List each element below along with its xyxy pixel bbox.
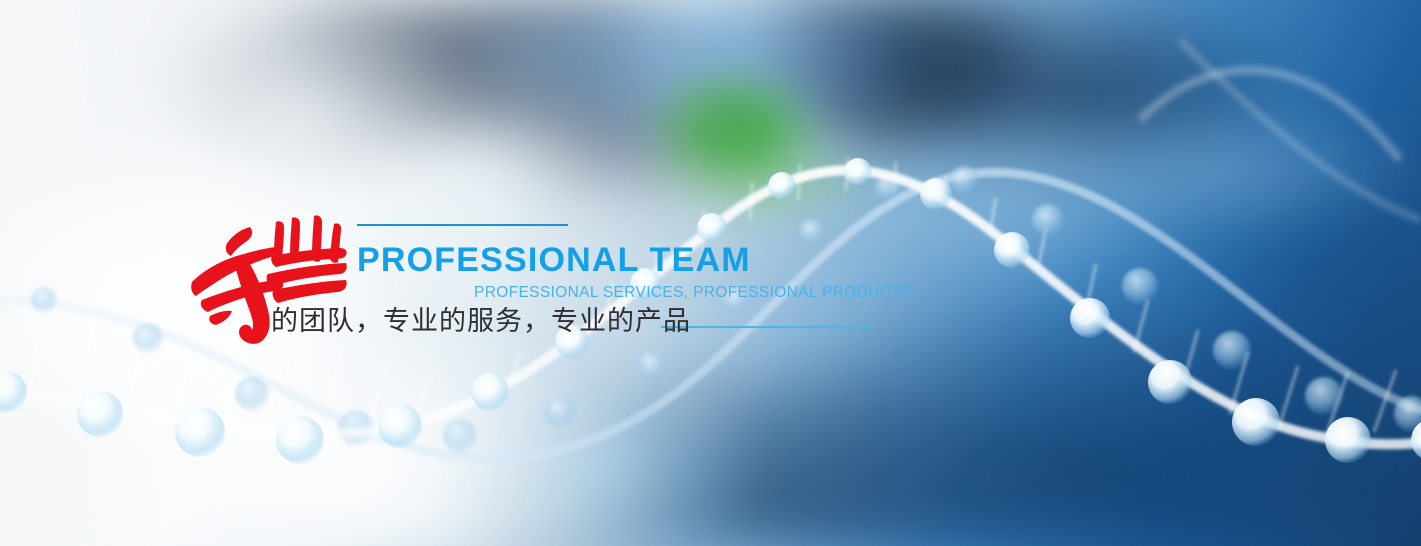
page-title: PROFESSIONAL TEAM [357,243,751,277]
chinese-tagline: 的团队，专业的服务，专业的产品 [271,306,691,337]
banner-content: PROFESSIONAL TEAM PROFESSIONAL SERVICES,… [0,0,1421,546]
page-subtitle: PROFESSIONAL SERVICES, PROFESSIONAL PROD… [474,285,912,301]
divider-top [357,224,568,226]
divider-bottom [661,326,873,328]
professional-team-banner: PROFESSIONAL TEAM PROFESSIONAL SERVICES,… [0,0,1421,546]
